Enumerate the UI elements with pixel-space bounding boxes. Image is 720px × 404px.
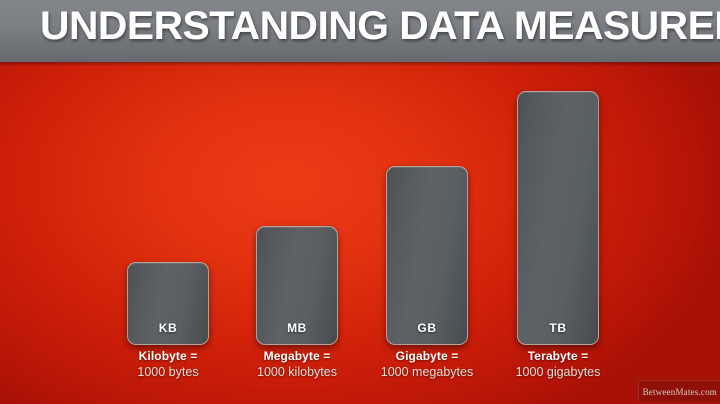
bar-abbr-gb: GB bbox=[387, 321, 467, 335]
bar-gb: GB bbox=[386, 166, 468, 345]
bar-caption-title-kb: Kilobyte = bbox=[93, 349, 243, 364]
title-banner: UNDERSTANDING DATA MEASUREMENTS bbox=[0, 0, 720, 62]
page-title: UNDERSTANDING DATA MEASUREMENTS bbox=[40, 4, 720, 49]
bar-caption-mb: Megabyte = 1000 kilobytes bbox=[222, 349, 372, 380]
bar-caption-sub-kb: 1000 bytes bbox=[93, 364, 243, 380]
bar-abbr-kb: KB bbox=[128, 321, 208, 335]
watermark-text: BetweenMates.com bbox=[643, 387, 717, 397]
bar-mb: MB bbox=[256, 226, 338, 345]
bar-caption-sub-gb: 1000 megabytes bbox=[352, 364, 502, 380]
bar-group-tb: TB Terabyte = 1000 gigabytes bbox=[483, 62, 633, 404]
bar-tb: TB bbox=[517, 91, 599, 345]
bar-caption-gb: Gigabyte = 1000 megabytes bbox=[352, 349, 502, 380]
bar-caption-title-tb: Terabyte = bbox=[483, 349, 633, 364]
watermark: BetweenMates.com bbox=[638, 380, 720, 402]
bar-group-kb: KB Kilobyte = 1000 bytes bbox=[93, 62, 243, 404]
bar-caption-title-gb: Gigabyte = bbox=[352, 349, 502, 364]
bar-caption-kb: Kilobyte = 1000 bytes bbox=[93, 349, 243, 380]
bar-caption-sub-tb: 1000 gigabytes bbox=[483, 364, 633, 380]
bar-caption-sub-mb: 1000 kilobytes bbox=[222, 364, 372, 380]
bar-caption-title-mb: Megabyte = bbox=[222, 349, 372, 364]
bar-abbr-mb: MB bbox=[257, 321, 337, 335]
bar-group-gb: GB Gigabyte = 1000 megabytes bbox=[352, 62, 502, 404]
bar-kb: KB bbox=[127, 262, 209, 345]
bar-caption-tb: Terabyte = 1000 gigabytes bbox=[483, 349, 633, 380]
bar-group-mb: MB Megabyte = 1000 kilobytes bbox=[222, 62, 372, 404]
bar-chart: KB Kilobyte = 1000 bytes MB Megabyte = 1… bbox=[0, 62, 720, 404]
bar-abbr-tb: TB bbox=[518, 321, 598, 335]
infographic-slide: UNDERSTANDING DATA MEASUREMENTS KB Kilob… bbox=[0, 0, 720, 404]
